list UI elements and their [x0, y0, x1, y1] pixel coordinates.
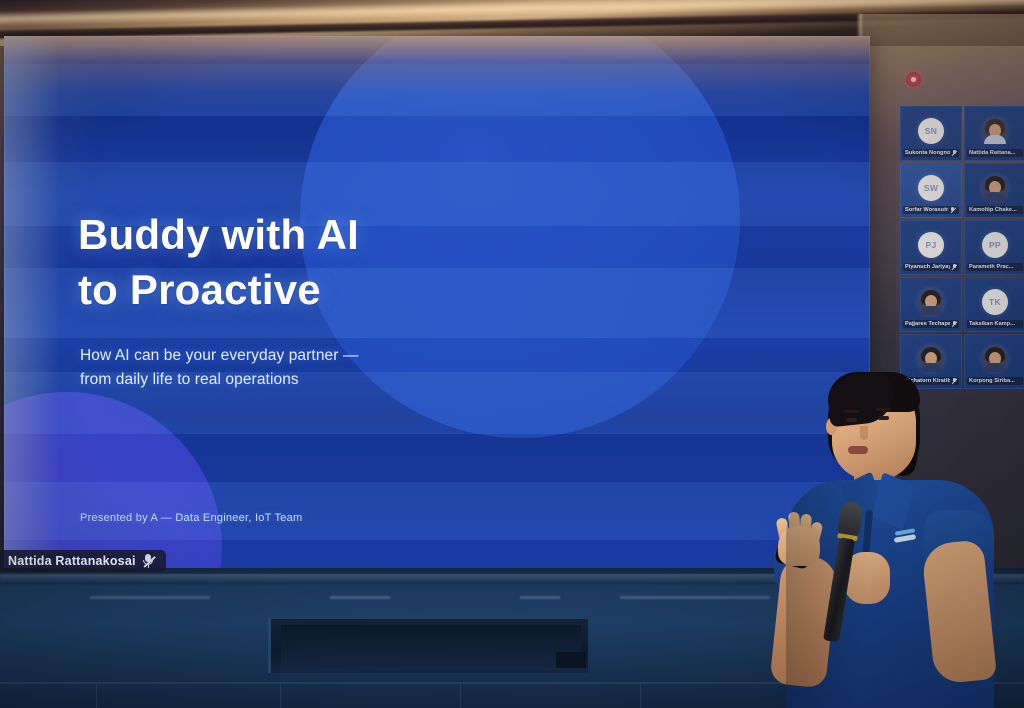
credenza-seam — [640, 684, 641, 708]
recording-indicator-icon — [906, 72, 921, 87]
participant-name-label: Sukonta Nongno... — [903, 149, 959, 157]
avatar — [918, 289, 944, 315]
credenza-open-shelf — [268, 617, 588, 673]
participant-tile[interactable]: Kamoltip Chake... — [964, 163, 1024, 218]
presentation-slide: Buddy with AI to Proactive How AI can be… — [4, 36, 870, 570]
participant-name: Sorfar Worasutr — [905, 207, 948, 213]
participant-name-label: Piyanuch Jariyay... — [903, 263, 959, 271]
participant-name: Nattida Rattana... — [969, 150, 1016, 156]
participant-name-label: Kamoltip Chake... — [967, 206, 1023, 214]
slide-title: Buddy with AI to Proactive — [78, 208, 359, 317]
presenter-eye — [846, 418, 857, 422]
projection-screen: Buddy with AI to Proactive How AI can be… — [4, 36, 870, 570]
participant-tile[interactable]: SNSukonta Nongno... — [900, 106, 962, 161]
presenter-person — [742, 360, 1024, 708]
participant-name: Pajjaree Techapa... — [905, 321, 950, 327]
participant-tile-grid: SNSukonta Nongno...Nattida Rattana...SWS… — [900, 106, 1024, 389]
presenter-eyebrow — [876, 408, 891, 411]
participant-tile[interactable]: Pajjaree Techapa... — [900, 277, 962, 332]
avatar — [982, 175, 1008, 201]
credenza-item — [556, 652, 586, 668]
avatar — [982, 118, 1008, 144]
microphone-muted-icon — [952, 321, 957, 327]
participant-name: Kamoltip Chake... — [969, 207, 1017, 213]
participant-tile[interactable]: PJPiyanuch Jariyay... — [900, 220, 962, 275]
microphone-muted-icon — [143, 554, 154, 568]
slide-band — [4, 482, 870, 540]
participant-name-label: Nattida Rattana... — [967, 149, 1023, 157]
credenza-seam — [460, 684, 461, 708]
presentation-room-scene: Buddy with AI to Proactive How AI can be… — [0, 0, 1024, 708]
participant-name: Piyanuch Jariyay... — [905, 264, 950, 270]
participant-tile[interactable]: Nattida Rattana... — [964, 106, 1024, 161]
participant-tile[interactable]: TKTaksikan Kamp... — [964, 277, 1024, 332]
participant-name-label: Pajjaree Techapa... — [903, 320, 959, 328]
presenter-mouth — [848, 446, 868, 454]
microphone-muted-icon — [952, 264, 957, 270]
avatar-initials: PP — [982, 232, 1008, 258]
participant-name: Sukonta Nongno... — [905, 150, 950, 156]
avatar-initials: SW — [918, 175, 944, 201]
presenter-eyebrow — [844, 410, 859, 413]
participant-name-label: Sorfar Worasutr — [903, 206, 959, 214]
credenza-highlight — [330, 596, 390, 599]
participant-tile[interactable]: SWSorfar Worasutr — [900, 163, 962, 218]
presenter-shirt-logo — [894, 528, 918, 545]
active-speaker-name-bar: Nattida Rattanakosai — [0, 550, 166, 572]
participant-name: Parameth Prac... — [969, 264, 1014, 270]
participant-name: Taksikan Kamp... — [969, 321, 1015, 327]
participant-name-label: Taksikan Kamp... — [967, 320, 1023, 328]
avatar-initials: SN — [918, 118, 944, 144]
slide-subtitle: How AI can be your everyday partner — fr… — [80, 344, 359, 391]
credenza-highlight — [520, 596, 560, 599]
microphone-muted-icon — [950, 207, 955, 213]
avatar-initials: TK — [982, 289, 1008, 315]
presenter-nose — [860, 426, 868, 440]
slide-presenter-credit: Presented by A — Data Engineer, IoT Team — [80, 512, 302, 524]
participant-rail: SNSukonta Nongno...Nattida Rattana...SWS… — [896, 64, 1024, 394]
credenza-highlight — [90, 596, 210, 599]
microphone-muted-icon — [952, 150, 957, 156]
presenter-hand-left — [772, 510, 824, 566]
projector-glow — [4, 36, 870, 94]
credenza-seam — [96, 684, 97, 708]
active-speaker-name: Nattida Rattanakosai — [8, 554, 136, 568]
presenter-eye — [878, 416, 889, 420]
participant-tile[interactable]: PPParameth Prac... — [964, 220, 1024, 275]
credenza-seam — [280, 684, 281, 708]
avatar-initials: PJ — [918, 232, 944, 258]
participant-name-label: Parameth Prac... — [967, 263, 1023, 271]
